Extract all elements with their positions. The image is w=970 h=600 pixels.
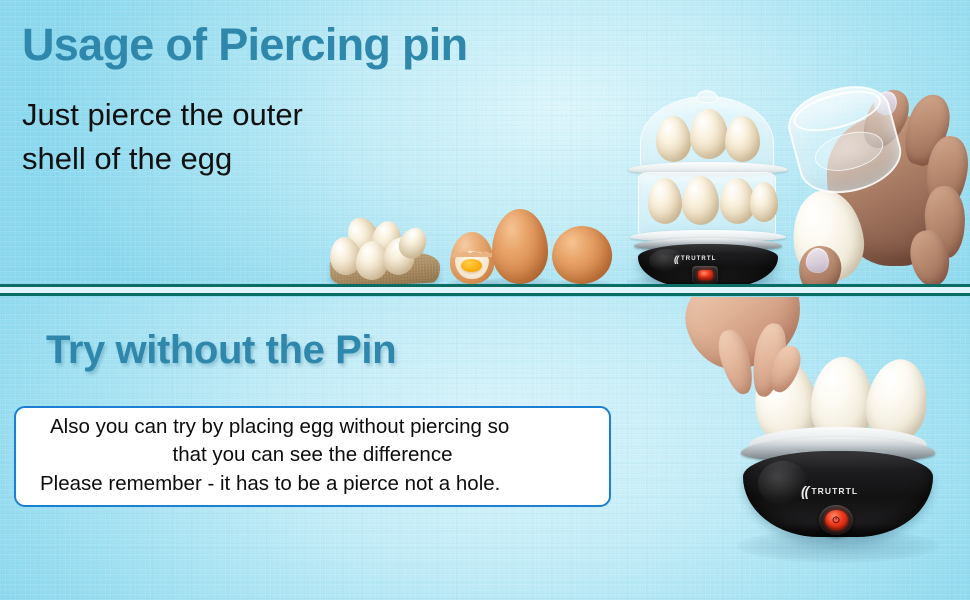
- egg-yolk: [461, 259, 482, 272]
- hand-placing-egg-image: [700, 301, 840, 431]
- egg: [656, 116, 691, 162]
- promotional-banner: (( TRUTRTL: [0, 0, 970, 600]
- note-line: Also you can try by placing egg without …: [30, 413, 595, 441]
- egg: [682, 176, 719, 225]
- cracked-egg-image: [450, 232, 494, 286]
- egg-cooker-double-tier: (( TRUTRTL: [624, 96, 792, 287]
- hand-with-cup-image: [775, 80, 970, 287]
- divider-rule-bottom: [0, 293, 970, 296]
- cup-rim: [789, 83, 885, 139]
- power-button[interactable]: ⏻: [819, 505, 853, 535]
- egg: [690, 109, 728, 159]
- top-panel-title: Usage of Piercing pin: [22, 19, 467, 71]
- divider-rule-top: [0, 284, 970, 287]
- egg: [648, 178, 682, 224]
- egg: [750, 182, 778, 222]
- note-box: Also you can try by placing egg without …: [14, 406, 611, 507]
- power-button[interactable]: [692, 266, 718, 284]
- brand-mark-icon: ((: [674, 254, 678, 264]
- brand-name: TRUTRTL: [681, 256, 716, 262]
- bottom-panel-title: Try without the Pin: [46, 328, 396, 373]
- brand-logo: (( TRUTRTL: [801, 483, 858, 499]
- cup-inner-base: [811, 125, 888, 178]
- egg: [725, 116, 760, 162]
- note-line: that you can see the difference: [30, 441, 595, 469]
- brand-mark-icon: ((: [801, 483, 808, 499]
- brand-name: TRUTRTL: [811, 486, 858, 496]
- brand-logo: (( TRUTRTL: [674, 254, 716, 264]
- top-panel-subtitle: Just pierce the outer shell of the egg: [22, 93, 303, 181]
- power-led: [698, 270, 713, 280]
- cooker-lid-knob: [696, 90, 718, 103]
- bottom-panel: (( TRUTRTL ⏻ Try without the Pin Also yo…: [0, 297, 970, 600]
- power-led: ⏻: [825, 510, 848, 530]
- top-panel: (( TRUTRTL: [0, 0, 970, 287]
- nest-eggs-image: [326, 215, 442, 287]
- section-divider: [0, 284, 970, 300]
- note-line: Please remember - it has to be a pierce …: [30, 470, 595, 498]
